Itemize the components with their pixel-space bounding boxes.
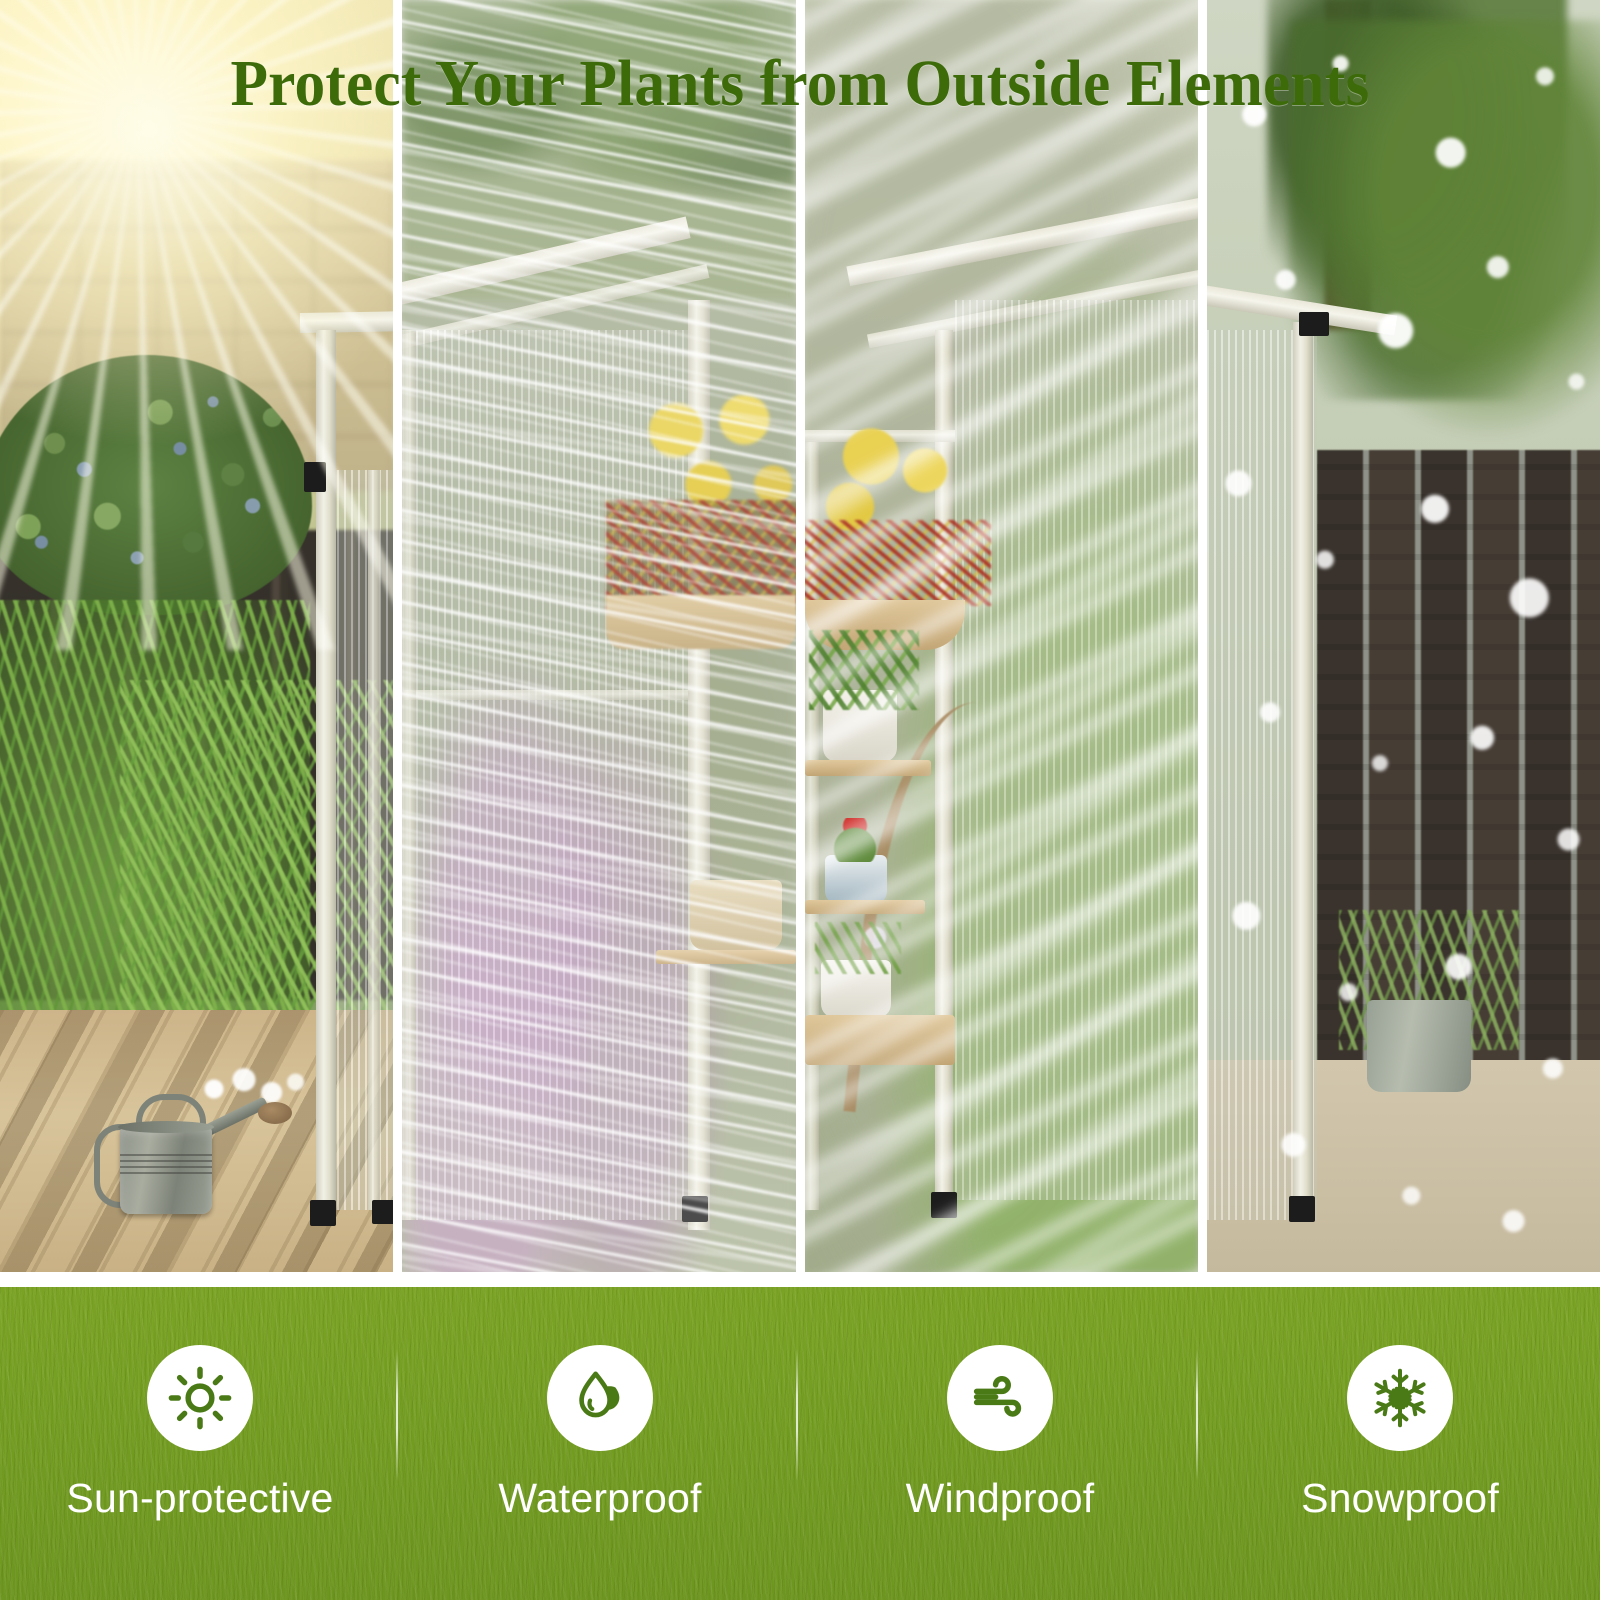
flowering-plant <box>815 922 901 974</box>
cactus-with-red-flower <box>833 818 877 862</box>
feature-snowproof[interactable]: Snowproof <box>1200 1287 1600 1600</box>
watering-can-rose <box>258 1102 292 1124</box>
icon-circle <box>1347 1345 1453 1451</box>
greenhouse-foot <box>1289 1196 1315 1222</box>
wooden-plant-stand <box>805 1015 955 1065</box>
greenhouse-roof-bracket <box>1299 312 1329 336</box>
plant-shelf-upper <box>805 760 931 776</box>
greenhouse-foot-2 <box>372 1200 393 1224</box>
greenhouse-corner-post <box>1293 322 1313 1222</box>
rain-panel <box>393 0 795 1272</box>
promo-image: Protect Your Plants from Outside Element… <box>0 0 1600 1600</box>
greenhouse-polycarbonate <box>330 470 393 1210</box>
snow-panel <box>1198 0 1600 1272</box>
feature-label: Sun-protective <box>0 1475 400 1522</box>
ornamental-pepper <box>801 520 991 606</box>
water-drop-icon <box>567 1365 633 1431</box>
feature-label: Windproof <box>800 1475 1200 1522</box>
greenhouse-mullion <box>368 470 380 1210</box>
sun-panel <box>0 0 393 1272</box>
metal-bucket <box>1367 1000 1471 1092</box>
icon-circle <box>147 1345 253 1451</box>
page-title: Protect Your Plants from Outside Element… <box>56 46 1544 122</box>
rain-mist <box>402 0 795 1272</box>
greenhouse-foot <box>931 1192 957 1218</box>
feature-waterproof[interactable]: Waterproof <box>400 1287 800 1600</box>
snowflake-icon <box>1368 1366 1432 1430</box>
feature-sun-protective[interactable]: Sun-protective <box>0 1287 400 1600</box>
plant-shelf-lower <box>805 900 925 914</box>
feature-label: Waterproof <box>400 1475 800 1522</box>
wind-panel <box>796 0 1198 1272</box>
feature-bar: Sun-protective Waterproof <box>0 1287 1600 1600</box>
icon-circle <box>947 1345 1053 1451</box>
photo-strip <box>0 0 1600 1272</box>
greenhouse-foot <box>310 1200 336 1226</box>
feature-label: Snowproof <box>1200 1475 1600 1522</box>
greenhouse-bracket <box>304 462 326 492</box>
icon-circle <box>547 1345 653 1451</box>
feature-windproof[interactable]: Windproof <box>800 1287 1200 1600</box>
small-cactus-pot <box>825 855 887 905</box>
watering-can-opening <box>118 1121 214 1133</box>
white-separator <box>0 1272 1600 1287</box>
watering-can <box>92 1096 242 1216</box>
potted-green-plant <box>809 630 919 710</box>
sun-icon <box>167 1365 233 1431</box>
wind-icon <box>967 1365 1033 1431</box>
watering-can-rings <box>120 1154 212 1176</box>
